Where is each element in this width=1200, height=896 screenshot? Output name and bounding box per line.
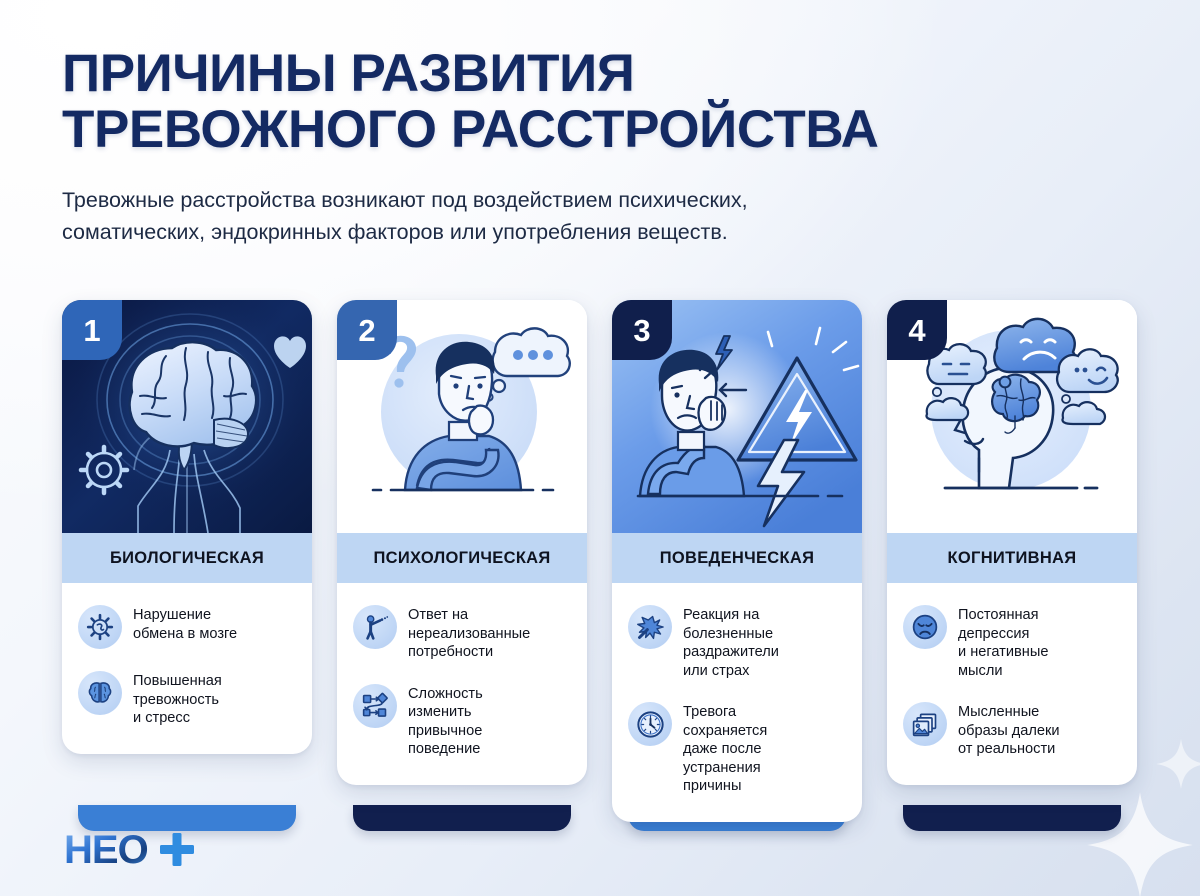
infographic-poster: ПРИЧИНЫ РАЗВИТИЯ ТРЕВОЖНОГО РАССТРОЙСТВА…: [0, 0, 1200, 896]
card-number-badge: 2: [337, 300, 397, 360]
card-number-badge: 1: [62, 300, 122, 360]
card-category-label: ПСИХОЛОГИЧЕСКАЯ: [373, 549, 550, 568]
card-category-band: ПСИХОЛОГИЧЕСКАЯ: [337, 533, 587, 583]
illustration-thinking-man: 2: [337, 300, 587, 533]
illustration-head-thought-clouds: 4: [887, 300, 1137, 533]
card-bullets: Постоянная депрессия и негативные мысли: [887, 583, 1137, 785]
brand-logo[interactable]: НЕО НЕО+: [64, 828, 196, 874]
gear-metabolism-icon: [78, 605, 122, 649]
header: ПРИЧИНЫ РАЗВИТИЯ ТРЕВОЖНОГО РАССТРОЙСТВА…: [62, 46, 1092, 248]
bullet-item: Постоянная депрессия и негативные мысли: [903, 605, 1121, 680]
bullet-item: Мысленные образы далеки от реальности: [903, 702, 1121, 759]
bullet-text: Тревога сохраняется даже после устранени…: [683, 702, 767, 796]
card-3[interactable]: 3 ПОВЕДЕНЧЕСКАЯ Реакция на болезненные р: [612, 300, 862, 822]
svg-text:НЕО: НЕО: [64, 828, 148, 872]
card-category-band: КОГНИТИВНАЯ: [887, 533, 1137, 583]
bullet-item: Ответ на нереализованные потребности: [353, 605, 571, 662]
cards-grid: 1 БИОЛОГИЧЕСКАЯ: [62, 300, 1138, 822]
card-foot-4: [903, 805, 1121, 831]
card-category-label: БИОЛОГИЧЕСКАЯ: [110, 549, 264, 568]
photo-stack-icon: [903, 702, 947, 746]
card-1[interactable]: 1 БИОЛОГИЧЕСКАЯ: [62, 300, 312, 822]
illustration-brain-neural: 1: [62, 300, 312, 533]
card-bullets: Реакция на болезненные раздражители или …: [612, 583, 862, 822]
bullet-text: Ответ на нереализованные потребности: [408, 605, 530, 662]
page-subtitle: Тревожные расстройства возникают под воз…: [62, 185, 1042, 247]
bullet-item: Реакция на болезненные раздражители или …: [628, 605, 846, 680]
flowchart-icon: [353, 684, 397, 728]
bullet-text: Повышенная тревожность и стресс: [133, 671, 222, 728]
bullet-text: Мысленные образы далеки от реальности: [958, 702, 1060, 759]
illustration-startled-man-warning: 3: [612, 300, 862, 533]
card-bullets: Нарушение обмена в мозге: [62, 583, 312, 754]
card-category-label: ПОВЕДЕНЧЕСКАЯ: [660, 549, 815, 568]
bullet-text: Реакция на болезненные раздражители или …: [683, 605, 779, 680]
bullet-item: Сложность изменить привычное поведение: [353, 684, 571, 759]
card-foot-1: [78, 805, 296, 831]
card-foot-2: [353, 805, 571, 831]
clock-icon: [628, 702, 672, 746]
sad-face-icon: [903, 605, 947, 649]
bullet-text: Сложность изменить привычное поведение: [408, 684, 483, 759]
card-number-badge: 3: [612, 300, 672, 360]
card-number-badge: 4: [887, 300, 947, 360]
bullet-item: Нарушение обмена в мозге: [78, 605, 296, 649]
sparkle-small-icon: [1155, 738, 1200, 790]
card-bullets: Ответ на нереализованные потребности: [337, 583, 587, 785]
bullet-item: Повышенная тревожность и стресс: [78, 671, 296, 728]
card-2[interactable]: 2 ПСИХОЛОГИЧЕСКАЯ: [337, 300, 587, 822]
card-category-label: КОГНИТИВНАЯ: [948, 549, 1077, 568]
card-category-band: ПОВЕДЕНЧЕСКАЯ: [612, 533, 862, 583]
burst-impact-icon: [628, 605, 672, 649]
card-4[interactable]: 4 КОГНИТИВНАЯ: [887, 300, 1137, 822]
person-reaching-icon: [353, 605, 397, 649]
bullet-text: Постоянная депрессия и негативные мысли: [958, 605, 1048, 680]
bullet-item: Тревога сохраняется даже после устранени…: [628, 702, 846, 796]
brain-icon: [78, 671, 122, 715]
card-category-band: БИОЛОГИЧЕСКАЯ: [62, 533, 312, 583]
page-title: ПРИЧИНЫ РАЗВИТИЯ ТРЕВОЖНОГО РАССТРОЙСТВА: [62, 46, 1092, 158]
bullet-text: Нарушение обмена в мозге: [133, 605, 237, 643]
